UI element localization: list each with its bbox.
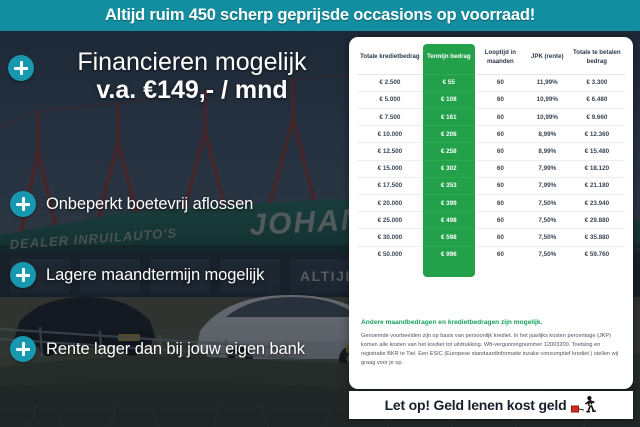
- rates-cell-r7-c3: 7,50%: [526, 194, 569, 211]
- rates-cell-r2-c1: € 161: [423, 109, 475, 126]
- feature-bullet-1: Onbeperkt boetevrij aflossen: [10, 191, 346, 217]
- rates-cell-r5-c3: 7,99%: [526, 160, 569, 177]
- table-row: € 15.000€ 302607,99%€ 18.120: [357, 160, 625, 177]
- rates-cell-r5-c2: 60: [475, 160, 526, 177]
- headline-block: Financieren mogelijk v.a. €149,- / mnd: [14, 48, 344, 106]
- rates-cell-r5-c1: € 302: [423, 160, 475, 177]
- feature-bullet-2: Lagere maandtermijn mogelijk: [10, 262, 346, 288]
- rates-cell-r6-c2: 60: [475, 177, 526, 194]
- rates-cell-r0-c4: € 3.300: [569, 74, 625, 91]
- rates-col-header-3: JPK (rente): [526, 44, 569, 74]
- rates-cell-r1-c3: 10,99%: [526, 91, 569, 108]
- rates-cell-r7-c1: € 399: [423, 194, 475, 211]
- table-row: € 50.000€ 996607,50%€ 59.760: [357, 246, 625, 263]
- feature-bullet-3: Rente lager dan bij jouw eigen bank: [10, 336, 346, 362]
- feature-bullet-2-label: Lagere maandtermijn mogelijk: [46, 266, 264, 285]
- rates-cell-r0-c3: 11,99%: [526, 74, 569, 91]
- loan-rates-table: Totale kredietbedragTermijn bedragLoopti…: [357, 44, 625, 263]
- rates-cell-r1-c0: € 5.000: [357, 91, 423, 108]
- rates-cell-r7-c2: 60: [475, 194, 526, 211]
- promo-banner-root: JOHAN MEURE DEALER INRUILAUTO'S ALTIJD 4…: [0, 0, 640, 427]
- rates-cell-r0-c2: 60: [475, 74, 526, 91]
- headline-line-2: v.a. €149,- / mnd: [14, 76, 344, 106]
- table-row: € 20.000€ 399607,50%€ 23.940: [357, 194, 625, 211]
- feature-bullet-1-label: Onbeperkt boetevrij aflossen: [46, 195, 253, 214]
- top-banner: Altijd ruim 450 scherp geprijsde occasio…: [0, 0, 640, 31]
- rates-table-head: Totale kredietbedragTermijn bedragLoopti…: [357, 44, 625, 74]
- running-man-ball-chain-icon: [571, 395, 597, 415]
- rates-cell-r1-c4: € 6.480: [569, 91, 625, 108]
- table-row: € 10.000€ 206608,99%€ 12.360: [357, 126, 625, 143]
- rates-cell-r3-c2: 60: [475, 126, 526, 143]
- rates-cell-r2-c0: € 7.500: [357, 109, 423, 126]
- rates-cell-r6-c3: 7,99%: [526, 177, 569, 194]
- rates-col-header-1: Termijn bedrag: [423, 44, 475, 74]
- rates-cell-r0-c0: € 2.500: [357, 74, 423, 91]
- rates-table-body: € 2.500€ 556011,99%€ 3.300€ 5.000€ 10860…: [357, 74, 625, 263]
- rates-cell-r2-c3: 10,99%: [526, 109, 569, 126]
- rates-cell-r3-c0: € 10.000: [357, 126, 423, 143]
- table-row: € 2.500€ 556011,99%€ 3.300: [357, 74, 625, 91]
- table-row: € 5.000€ 1086010,99%€ 6.480: [357, 91, 625, 108]
- rates-cell-r8-c1: € 498: [423, 212, 475, 229]
- rates-cell-r4-c4: € 15.480: [569, 143, 625, 160]
- rates-cell-r4-c3: 8,99%: [526, 143, 569, 160]
- rates-cell-r1-c1: € 108: [423, 91, 475, 108]
- table-row: € 12.500€ 258608,99%€ 15.480: [357, 143, 625, 160]
- table-row: € 7.500€ 1616010,99%€ 9.660: [357, 109, 625, 126]
- rates-cell-r9-c2: 60: [475, 229, 526, 246]
- loan-warning-bar: Let op! Geld lenen kost geld: [349, 391, 633, 419]
- rates-cell-r9-c0: € 30.000: [357, 229, 423, 246]
- rates-cell-r10-c2: 60: [475, 246, 526, 263]
- rates-cell-r9-c3: 7,50%: [526, 229, 569, 246]
- feature-bullet-3-label: Rente lager dan bij jouw eigen bank: [46, 340, 305, 359]
- disclaimer-title: Andere maandbedragen en kredietbedragen …: [361, 319, 623, 328]
- rates-card: Totale kredietbedragTermijn bedragLoopti…: [349, 37, 633, 389]
- loan-warning-text: Let op! Geld lenen kost geld: [385, 397, 567, 413]
- rates-cell-r4-c2: 60: [475, 143, 526, 160]
- highlight-column-tail: [423, 263, 475, 277]
- rates-cell-r7-c4: € 23.940: [569, 194, 625, 211]
- rates-header-row: Totale kredietbedragTermijn bedragLoopti…: [357, 44, 625, 74]
- rates-cell-r10-c0: € 50.000: [357, 246, 423, 263]
- rates-cell-r8-c4: € 29.880: [569, 212, 625, 229]
- rates-cell-r3-c1: € 206: [423, 126, 475, 143]
- plus-circle-icon: [10, 336, 36, 362]
- rates-cell-r4-c0: € 12.500: [357, 143, 423, 160]
- rates-cell-r9-c1: € 598: [423, 229, 475, 246]
- rates-cell-r3-c3: 8,99%: [526, 126, 569, 143]
- rates-cell-r6-c4: € 21.180: [569, 177, 625, 194]
- rates-cell-r6-c1: € 353: [423, 177, 475, 194]
- plus-circle-icon: [10, 191, 36, 217]
- rates-cell-r0-c1: € 55: [423, 74, 475, 91]
- rates-cell-r3-c4: € 12.360: [569, 126, 625, 143]
- rates-cell-r8-c2: 60: [475, 212, 526, 229]
- rates-col-header-2: Looptijd in maanden: [475, 44, 526, 74]
- rates-col-header-4: Totale te betalen bedrag: [569, 44, 625, 74]
- rates-cell-r5-c4: € 18.120: [569, 160, 625, 177]
- rates-cell-r10-c4: € 59.760: [569, 246, 625, 263]
- rates-cell-r4-c1: € 258: [423, 143, 475, 160]
- rates-cell-r2-c4: € 9.660: [569, 109, 625, 126]
- disclaimer-block: Andere maandbedragen en kredietbedragen …: [361, 319, 623, 368]
- table-row: € 30.000€ 598607,50%€ 35.880: [357, 229, 625, 246]
- rates-cell-r7-c0: € 20.000: [357, 194, 423, 211]
- plus-circle-icon: [10, 262, 36, 288]
- rates-cell-r10-c1: € 996: [423, 246, 475, 263]
- rates-cell-r5-c0: € 15.000: [357, 160, 423, 177]
- left-content-column: Financieren mogelijk v.a. €149,- / mnd O…: [0, 31, 348, 427]
- disclaimer-body: Genoemde voorbeelden zijn op basis van p…: [361, 332, 623, 368]
- rates-col-header-0: Totale kredietbedrag: [357, 44, 423, 74]
- rates-cell-r8-c3: 7,50%: [526, 212, 569, 229]
- rates-cell-r10-c3: 7,50%: [526, 246, 569, 263]
- table-row: € 25.000€ 498607,50%€ 29.880: [357, 212, 625, 229]
- headline-line-1: Financieren mogelijk: [14, 48, 344, 76]
- rates-cell-r1-c2: 60: [475, 91, 526, 108]
- rates-cell-r8-c0: € 25.000: [357, 212, 423, 229]
- top-banner-text: Altijd ruim 450 scherp geprijsde occasio…: [105, 6, 535, 25]
- rates-cell-r2-c2: 60: [475, 109, 526, 126]
- rates-cell-r9-c4: € 35.880: [569, 229, 625, 246]
- rates-cell-r6-c0: € 17.500: [357, 177, 423, 194]
- table-row: € 17.500€ 353607,99%€ 21.180: [357, 177, 625, 194]
